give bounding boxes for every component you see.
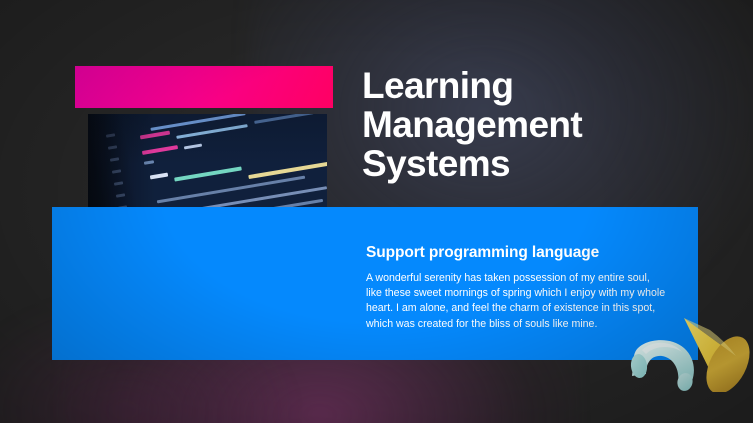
vignette-overlay [0, 0, 753, 423]
slide-canvas: Learning Management Systems Support prog… [0, 0, 753, 423]
